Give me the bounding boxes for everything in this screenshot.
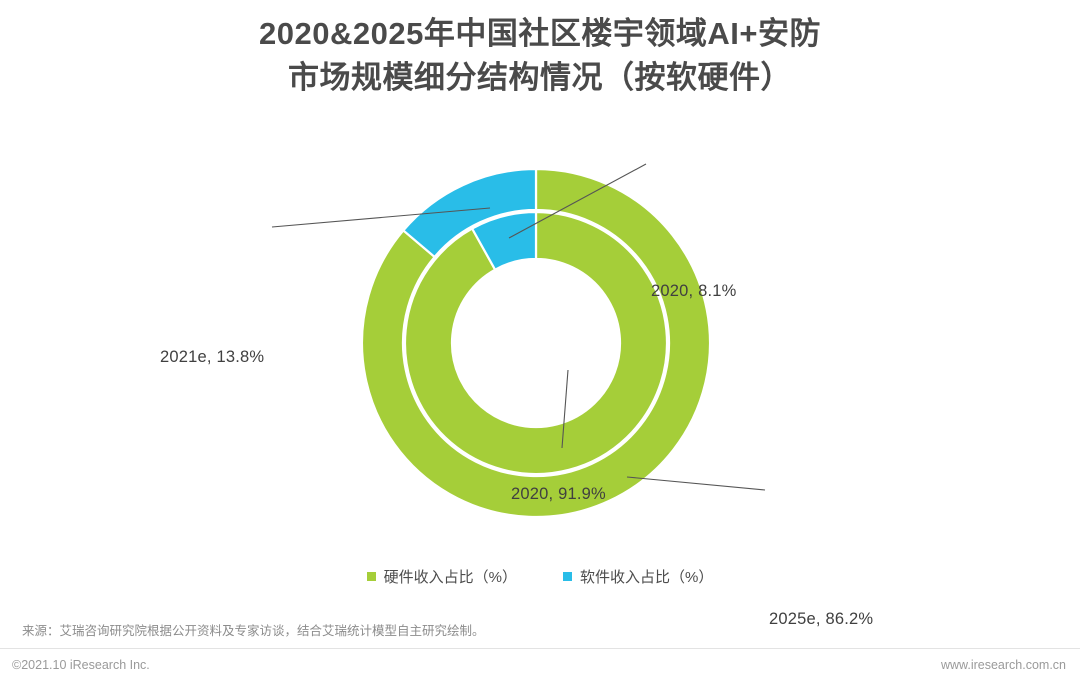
callout-outer-ring-hardware: 2025e, 86.2% <box>769 610 873 629</box>
leader-line-outer-green <box>627 477 765 490</box>
chart-legend: 硬件收入占比（%） 软件收入占比（%） <box>0 566 1080 587</box>
legend-swatch-hardware-icon <box>367 572 376 581</box>
legend-swatch-software-icon <box>563 572 572 581</box>
legend-label-software: 软件收入占比（%） <box>580 566 713 587</box>
copyright-text: ©2021.10 iResearch Inc. <box>12 658 150 672</box>
legend-item-hardware[interactable]: 硬件收入占比（%） <box>367 566 517 587</box>
footer-bar <box>0 649 1080 684</box>
source-note: 来源：艾瑞咨询研究院根据公开资料及专家访谈，结合艾瑞统计模型自主研究绘制。 <box>22 620 485 639</box>
callout-inner-ring-software: 2020, 8.1% <box>651 282 736 301</box>
nested-donut-chart: 2021e, 13.8% 2020, 8.1% 2020, 91.9% 2025… <box>0 130 1080 550</box>
callout-outer-ring-software: 2021e, 13.8% <box>160 348 264 367</box>
slide-canvas: 2020&2025年中国社区楼宇领域AI+安防 市场规模细分结构情况（按软硬件）… <box>0 0 1080 684</box>
website-link[interactable]: www.iresearch.com.cn <box>941 658 1066 672</box>
title-line-1: 2020&2025年中国社区楼宇领域AI+安防 <box>0 12 1080 56</box>
page-title: 2020&2025年中国社区楼宇领域AI+安防 市场规模细分结构情况（按软硬件） <box>0 12 1080 100</box>
callout-inner-ring-hardware: 2020, 91.9% <box>511 485 606 504</box>
title-line-2: 市场规模细分结构情况（按软硬件） <box>0 56 1080 100</box>
legend-label-hardware: 硬件收入占比（%） <box>384 566 517 587</box>
legend-item-software[interactable]: 软件收入占比（%） <box>563 566 713 587</box>
